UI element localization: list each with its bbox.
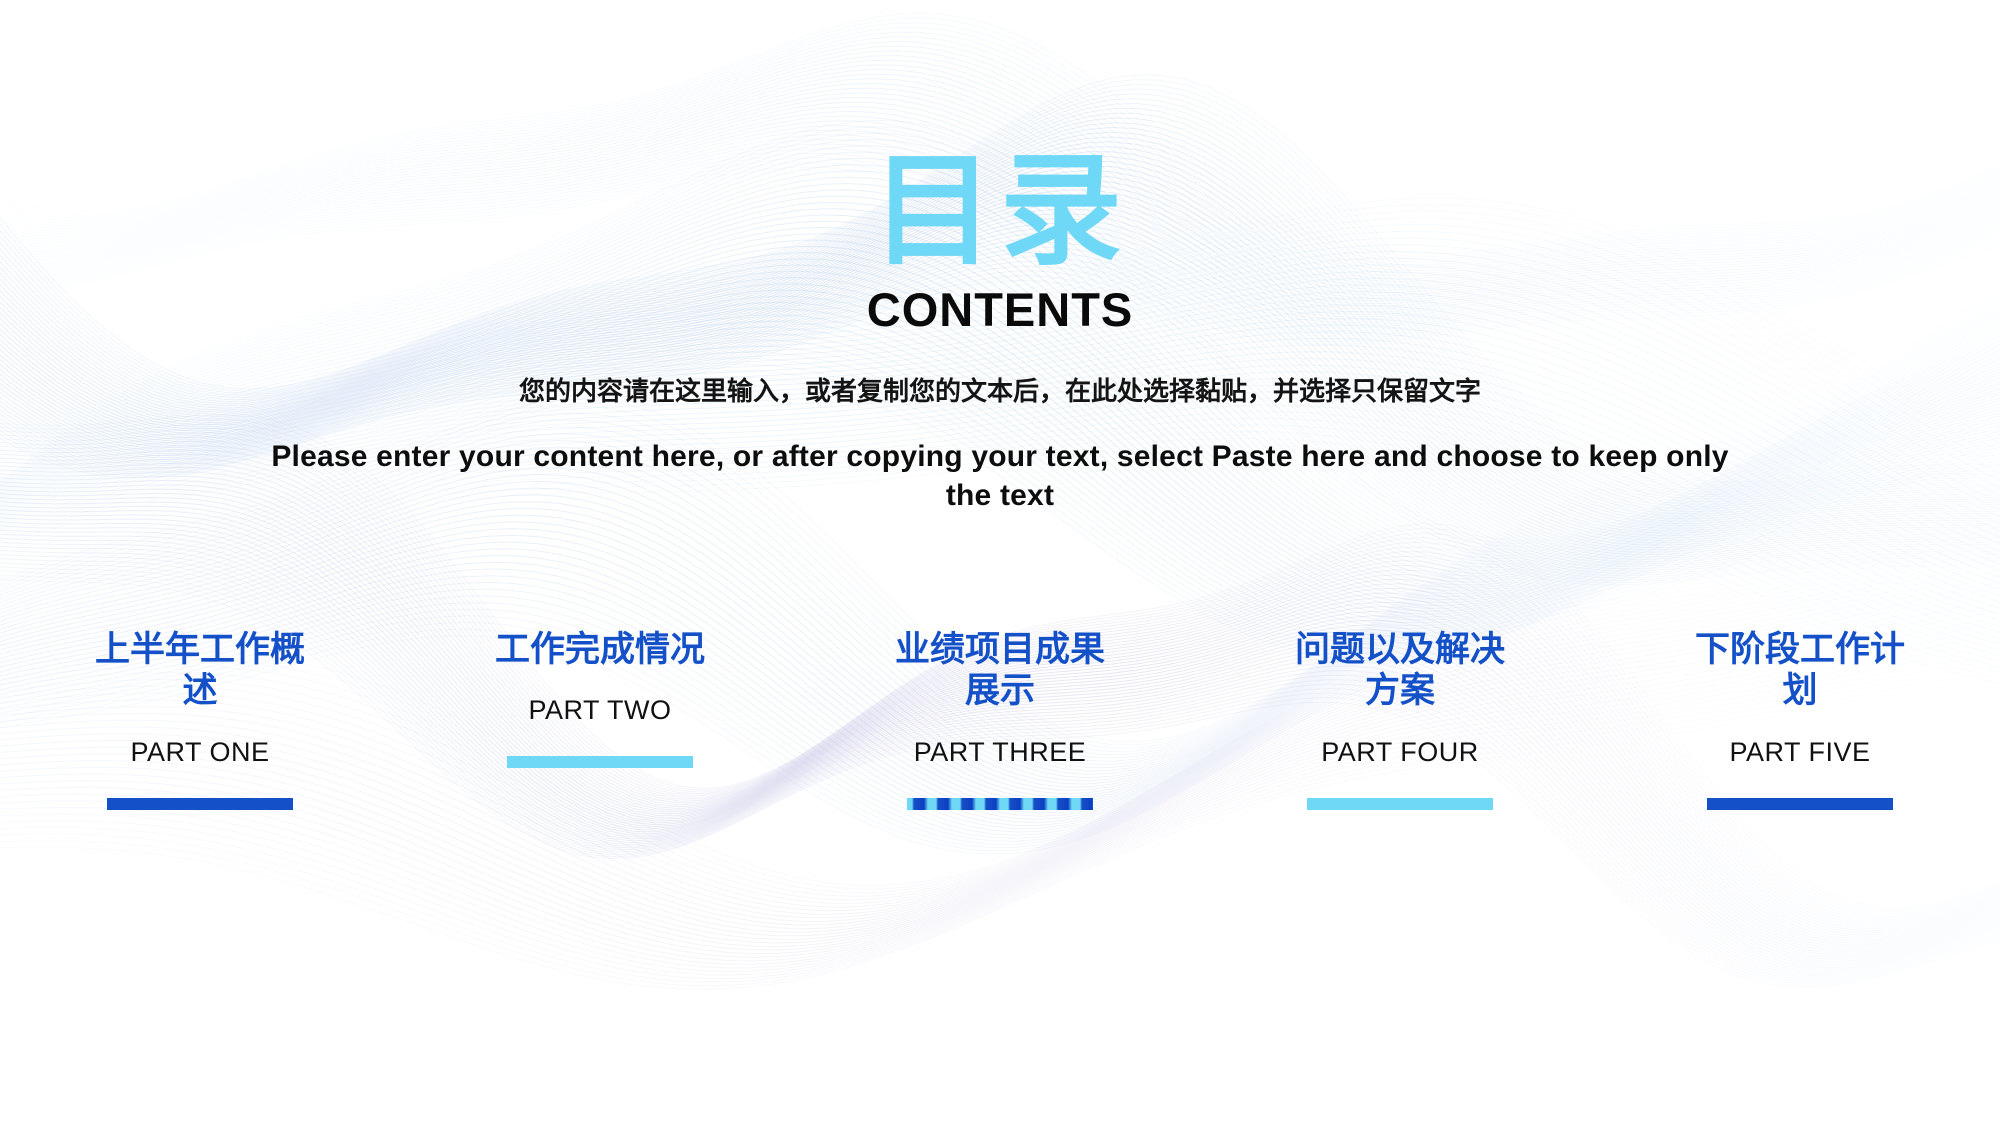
section-title-cn: 工作完成情况 xyxy=(485,630,715,671)
section-title-cn: 业绩项目成果展示 xyxy=(885,630,1115,713)
section-underline-bar xyxy=(1707,798,1893,810)
section-item-two[interactable]: 工作完成情况 PART TWO xyxy=(400,630,800,810)
section-part-label: PART FOUR xyxy=(1200,713,1600,766)
section-part-label: PART THREE xyxy=(800,713,1200,766)
section-title-cn: 问题以及解决方案 xyxy=(1285,630,1515,713)
subtitle-cn: 您的内容请在这里输入，或者复制您的文本后，在此处选择黏贴，并选择只保留文字 xyxy=(0,333,2000,408)
section-underline-bar xyxy=(907,798,1093,810)
section-part-label: PART ONE xyxy=(0,713,400,766)
page-title-cn: 目录 xyxy=(0,0,2000,272)
section-underline-bar xyxy=(107,798,293,810)
section-item-four[interactable]: 问题以及解决方案 PART FOUR xyxy=(1200,630,1600,810)
section-title-cn: 上半年工作概述 xyxy=(85,630,315,713)
subtitle-en: Please enter your content here, or after… xyxy=(250,408,1750,515)
contents-slide: 目录 CONTENTS 您的内容请在这里输入，或者复制您的文本后，在此处选择黏贴… xyxy=(0,0,2000,1125)
section-underline-bar xyxy=(507,756,693,768)
slide-header: 目录 CONTENTS 您的内容请在这里输入，或者复制您的文本后，在此处选择黏贴… xyxy=(0,0,2000,515)
section-title-cn: 下阶段工作计划 xyxy=(1685,630,1915,713)
section-part-label: PART FIVE xyxy=(1600,713,2000,766)
section-item-one[interactable]: 上半年工作概述 PART ONE xyxy=(0,630,400,810)
section-item-five[interactable]: 下阶段工作计划 PART FIVE xyxy=(1600,630,2000,810)
section-list: 上半年工作概述 PART ONE 工作完成情况 PART TWO 业绩项目成果展… xyxy=(0,630,2000,810)
section-underline-bar xyxy=(1307,798,1493,810)
section-part-label: PART TWO xyxy=(400,671,800,724)
section-item-three[interactable]: 业绩项目成果展示 PART THREE xyxy=(800,630,1200,810)
